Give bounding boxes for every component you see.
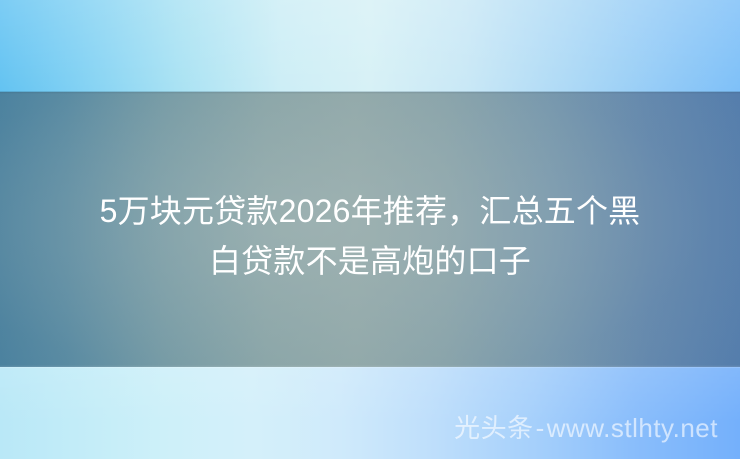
watermark-separator: - bbox=[534, 413, 547, 443]
background-band-top bbox=[0, 0, 740, 92]
page-title-line-1: 5万块元贷款2026年推荐，汇总五个黑 bbox=[0, 186, 740, 236]
page-title-line-2: 白贷款不是高炮的口子 bbox=[0, 236, 740, 286]
watermark-site-name: 光头条 bbox=[454, 413, 534, 443]
article-thumbnail-banner: 5万块元贷款2026年推荐，汇总五个黑 白贷款不是高炮的口子 光头条-www.s… bbox=[0, 0, 740, 459]
watermark-url: www.stlhty.net bbox=[547, 413, 718, 443]
page-title: 5万块元贷款2026年推荐，汇总五个黑 白贷款不是高炮的口子 bbox=[0, 186, 740, 286]
site-watermark: 光头条-www.stlhty.net bbox=[454, 415, 718, 441]
